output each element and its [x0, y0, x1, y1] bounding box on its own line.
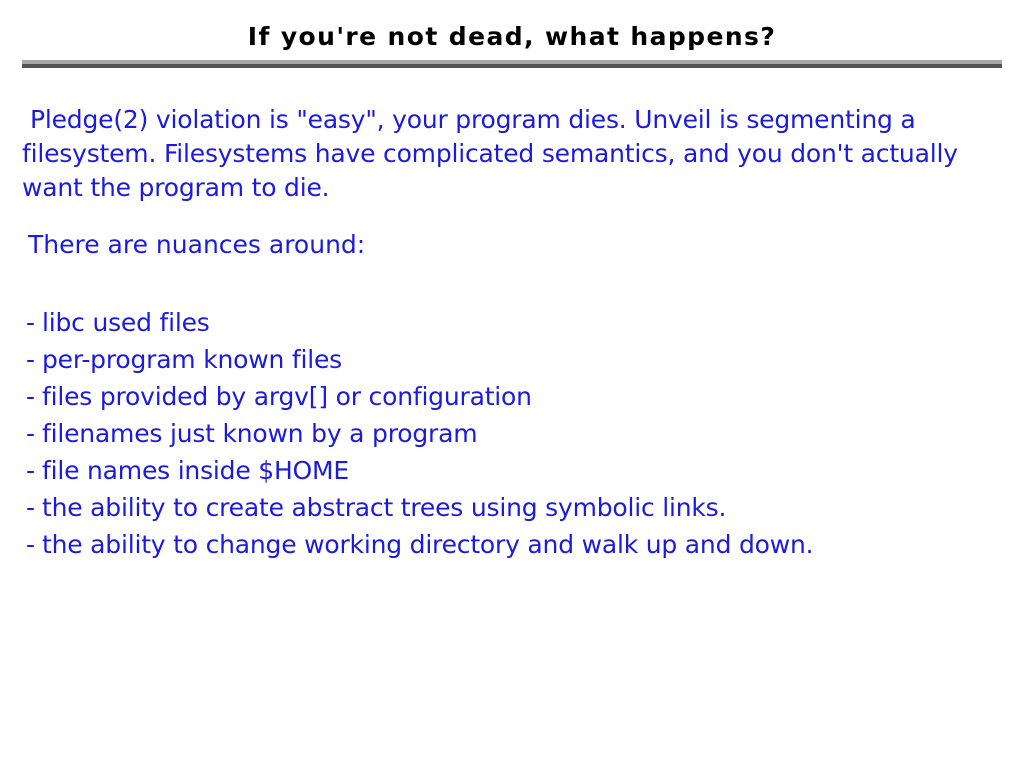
list-item: -the ability to create abstract trees us…: [26, 489, 813, 526]
list-item-label: files provided by argv[] or configuratio…: [42, 382, 532, 411]
bullet-dash-icon: -: [26, 526, 42, 563]
bullet-dash-icon: -: [26, 378, 42, 415]
title-divider: [22, 60, 1002, 68]
slide: If you're not dead, what happens? Pledge…: [0, 0, 1024, 768]
list-item-label: per-program known files: [42, 345, 342, 374]
intro-paragraph: Pledge(2) violation is "easy", your prog…: [22, 103, 990, 205]
list-item: -per-program known files: [26, 341, 813, 378]
list-item: -files provided by argv[] or configurati…: [26, 378, 813, 415]
page-title: If you're not dead, what happens?: [248, 22, 776, 52]
list-item: -filenames just known by a program: [26, 415, 813, 452]
nuances-list: -libc used files -per-program known file…: [26, 304, 813, 563]
nuances-heading: There are nuances around:: [28, 228, 365, 262]
bullet-dash-icon: -: [26, 489, 42, 526]
list-item-label: the ability to create abstract trees usi…: [42, 493, 726, 522]
list-item-label: filenames just known by a program: [42, 419, 477, 448]
bullet-dash-icon: -: [26, 341, 42, 378]
divider-dark-band: [22, 64, 1002, 68]
list-item: -file names inside $HOME: [26, 452, 813, 489]
bullet-dash-icon: -: [26, 452, 42, 489]
list-item: -libc used files: [26, 304, 813, 341]
bullet-dash-icon: -: [26, 415, 42, 452]
list-item-label: the ability to change working directory …: [42, 530, 813, 559]
title-block: If you're not dead, what happens?: [0, 22, 1024, 52]
list-item-label: file names inside $HOME: [42, 456, 349, 485]
list-item: -the ability to change working directory…: [26, 526, 813, 563]
list-item-label: libc used files: [42, 308, 210, 337]
bullet-dash-icon: -: [26, 304, 42, 341]
